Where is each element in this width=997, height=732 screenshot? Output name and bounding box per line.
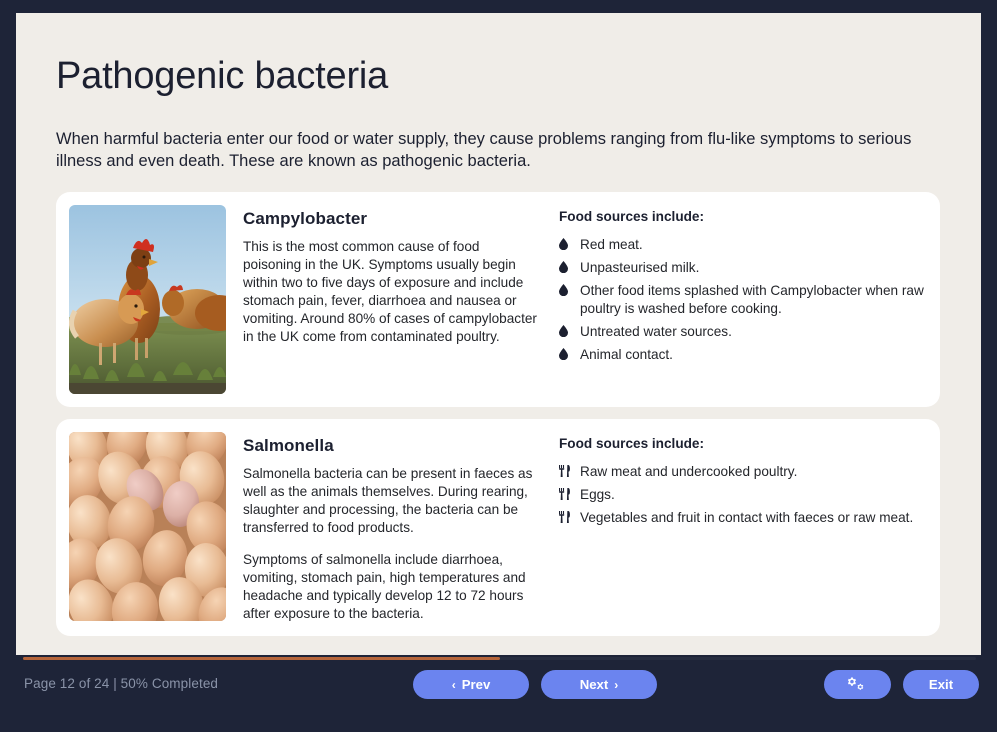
list-item: Red meat. [559, 236, 924, 254]
chevron-right-icon: › [614, 679, 618, 691]
list-item: Animal contact. [559, 346, 924, 364]
water-drop-icon [559, 236, 580, 250]
slide-canvas: Pathogenic bacteria When harmful bacteri… [16, 13, 981, 655]
side-heading: Food sources include: [559, 436, 924, 451]
info-card-salmonella: Salmonella Salmonella bacteria can be pr… [56, 419, 940, 637]
prev-button-label: Prev [462, 677, 491, 692]
slide-intro-text: When harmful bacteria enter our food or … [56, 128, 936, 173]
water-drop-icon [559, 346, 580, 360]
list-item-label: Animal contact. [580, 346, 924, 364]
water-drop-icon [559, 259, 580, 273]
card-title: Campylobacter [243, 209, 538, 229]
list-item: Other food items splashed with Campyloba… [559, 282, 924, 318]
list-item-label: Other food items splashed with Campyloba… [580, 282, 924, 318]
water-drop-icon [559, 323, 580, 337]
next-button[interactable]: Next › [541, 670, 657, 699]
gears-icon [848, 677, 867, 692]
card-media [69, 432, 226, 621]
card-body: Salmonella Salmonella bacteria can be pr… [226, 432, 538, 624]
info-card-campylobacter: Campylobacter This is the most common ca… [56, 192, 940, 407]
settings-button[interactable] [824, 670, 891, 699]
exit-button[interactable]: Exit [903, 670, 979, 699]
course-player: Pathogenic bacteria When harmful bacteri… [0, 0, 997, 732]
list-item-label: Raw meat and undercooked poultry. [580, 463, 924, 481]
next-button-label: Next [580, 677, 609, 692]
card-side-panel: Food sources include: Red meat. [538, 205, 940, 369]
chevron-left-icon: ‹ [452, 679, 456, 691]
list-item: Unpasteurised milk. [559, 259, 924, 277]
prev-button[interactable]: ‹ Prev [413, 670, 529, 699]
list-item: Vegetables and fruit in contact with fae… [559, 509, 924, 527]
card-side-panel: Food sources include: Raw meat and under… [538, 432, 940, 532]
exit-button-label: Exit [929, 677, 953, 692]
list-item-label: Unpasteurised milk. [580, 259, 924, 277]
list-item: Raw meat and undercooked poultry. [559, 463, 924, 481]
list-item-label: Eggs. [580, 486, 924, 504]
food-sources-list: Raw meat and undercooked poultry. Eggs. [559, 463, 924, 527]
card-list: Campylobacter This is the most common ca… [56, 192, 941, 637]
side-heading: Food sources include: [559, 209, 924, 224]
water-drop-icon [559, 282, 580, 296]
page-status-text: Page 12 of 24 | 50% Completed [24, 676, 218, 691]
utensils-icon [559, 486, 580, 500]
utility-buttons: Exit [824, 670, 979, 699]
card-paragraph: This is the most common cause of food po… [243, 238, 538, 346]
list-item-label: Red meat. [580, 236, 924, 254]
utensils-icon [559, 463, 580, 477]
list-item: Eggs. [559, 486, 924, 504]
card-paragraph: Symptoms of salmonella include diarrhoea… [243, 551, 538, 623]
navigation-buttons: ‹ Prev Next › [413, 670, 657, 699]
list-item-label: Untreated water sources. [580, 323, 924, 341]
card-body: Campylobacter This is the most common ca… [226, 205, 538, 346]
card-media [69, 205, 226, 394]
progress-bar-track[interactable] [23, 657, 976, 660]
chickens-photo [69, 205, 226, 394]
card-title: Salmonella [243, 436, 538, 456]
progress-bar-fill [23, 657, 500, 660]
eggs-photo [69, 432, 226, 621]
page-title: Pathogenic bacteria [56, 41, 941, 99]
list-item-label: Vegetables and fruit in contact with fae… [580, 509, 924, 527]
utensils-icon [559, 509, 580, 523]
list-item: Untreated water sources. [559, 323, 924, 341]
card-paragraph: Salmonella bacteria can be present in fa… [243, 465, 538, 537]
food-sources-list: Red meat. Unpasteurised milk. [559, 236, 924, 364]
